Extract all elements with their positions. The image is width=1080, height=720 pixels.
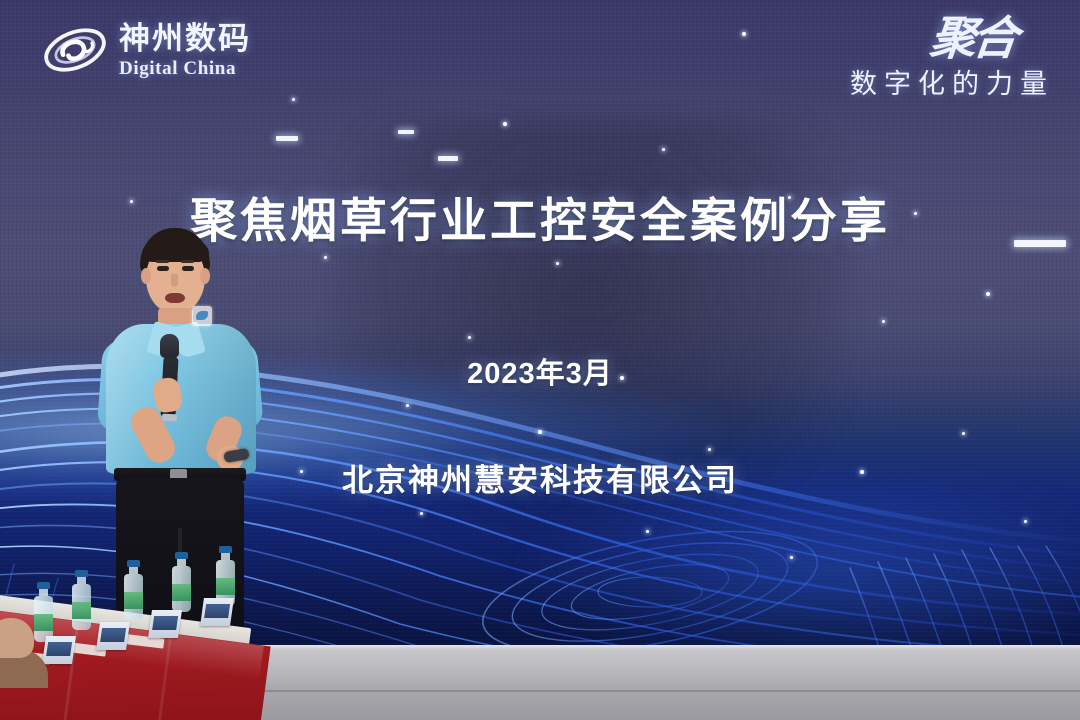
water-bottle <box>216 546 235 606</box>
sparkle-particle <box>406 404 409 407</box>
bottle-label <box>72 602 91 619</box>
bottle-neck <box>221 553 230 560</box>
shirt-logo-badge <box>192 306 212 326</box>
sparkle-particle <box>420 512 423 515</box>
bottle-body <box>172 566 191 612</box>
sparkle-particle <box>538 430 542 434</box>
digital-china-wordmark: 神州数码 Digital China <box>119 23 251 78</box>
bottle-body <box>124 574 143 620</box>
bottle-neck <box>177 559 186 566</box>
bottle-neck <box>129 567 138 574</box>
sparkle-particle <box>324 256 327 259</box>
digital-china-logo: 神州数码 Digital China <box>42 22 251 78</box>
sparkle-dash <box>276 136 298 141</box>
bottle-neck <box>39 589 48 596</box>
name-plate <box>200 598 234 626</box>
sparkle-particle <box>742 32 746 36</box>
bottle-cap <box>175 552 188 559</box>
bottle-cap <box>75 570 88 577</box>
bottle-label <box>172 584 191 601</box>
digital-china-swirl-icon <box>42 22 108 78</box>
water-bottle <box>124 560 143 620</box>
presenter-ear-right <box>200 268 210 284</box>
presenter-mouth <box>165 293 185 303</box>
sparkle-particle <box>986 292 990 296</box>
sparkle-dash <box>398 130 414 134</box>
presenter-brow-right <box>181 260 194 263</box>
sparkle-particle <box>1024 520 1027 523</box>
event-logo: 聚合 数字化的力量 <box>850 18 1054 101</box>
water-bottle <box>172 552 191 612</box>
presenter-fringe <box>142 236 209 262</box>
sparkle-dash <box>438 156 458 161</box>
digital-china-chinese: 神州数码 <box>119 23 251 54</box>
bottle-cap <box>219 546 232 553</box>
event-tagline: 数字化的力量 <box>850 62 1054 101</box>
sparkle-particle <box>646 530 649 533</box>
name-plate <box>96 622 130 650</box>
sparkle-particle <box>503 122 507 126</box>
sparkle-particle <box>292 98 295 101</box>
sparkle-particle <box>882 320 885 323</box>
bottle-cap <box>37 582 50 589</box>
sparkle-particle <box>468 336 471 339</box>
sparkle-particle <box>556 262 559 265</box>
presenter-brow-left <box>156 260 169 263</box>
microphone-ring <box>162 414 177 422</box>
bottle-cap <box>127 560 140 567</box>
bottle-label <box>124 592 143 609</box>
conference-stage-photo: 神州数码 Digital China 聚合 数字化的力量 聚焦烟草行业工控安全案… <box>0 0 1080 720</box>
microphone-head <box>160 334 179 358</box>
water-bottle <box>72 570 91 630</box>
sparkle-particle <box>790 556 793 559</box>
bottle-label <box>216 578 235 595</box>
name-plate <box>148 610 182 638</box>
bottle-neck <box>77 577 86 584</box>
sparkle-particle <box>708 448 711 451</box>
digital-china-english: Digital China <box>119 59 251 78</box>
presenter-eye-right <box>182 266 194 271</box>
sparkle-particle <box>662 148 665 151</box>
water-bottle <box>34 582 53 642</box>
bottle-body <box>72 584 91 630</box>
presenter-eye-left <box>157 266 169 271</box>
presenter-ear-left <box>141 268 151 284</box>
event-calligraphy: 聚合 <box>848 18 1016 60</box>
bottle-label <box>34 614 53 631</box>
sparkle-particle <box>962 432 965 435</box>
name-plate <box>42 636 76 664</box>
presenter-nose <box>171 274 178 287</box>
